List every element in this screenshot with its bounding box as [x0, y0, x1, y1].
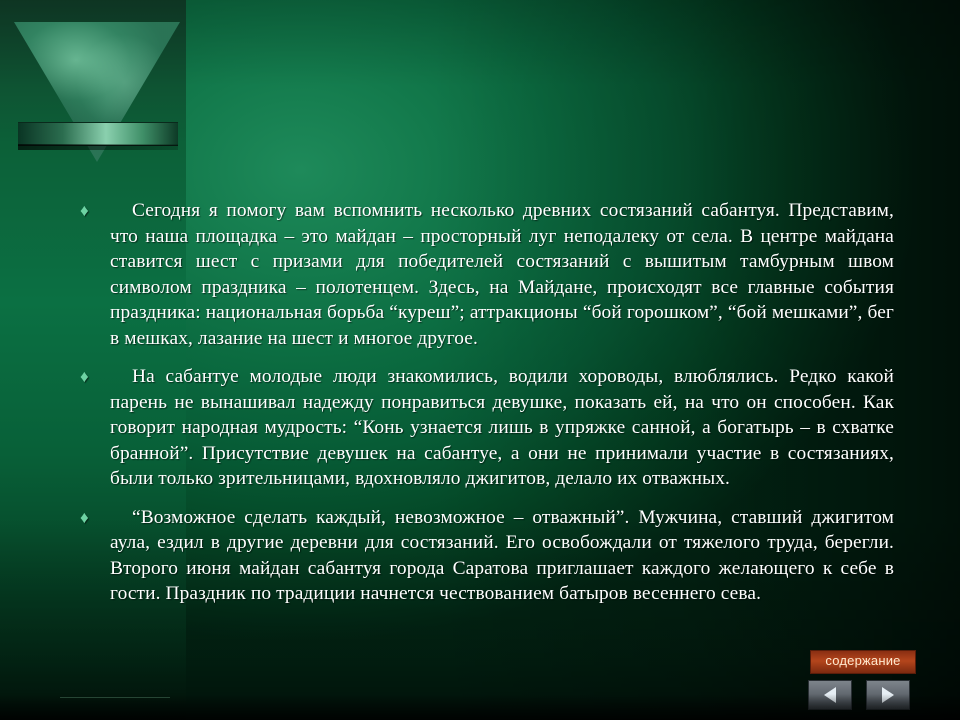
contents-link[interactable]: содержание: [810, 650, 916, 674]
bullet-paragraph: ♦ На сабантуе молодые люди знакомились, …: [64, 364, 894, 492]
triangle-emblem-icon: [14, 22, 180, 162]
bullet-paragraph: ♦ Сегодня я помогу вам вспомнить несколь…: [64, 198, 894, 351]
diamond-bullet-icon: ♦: [80, 200, 89, 222]
emblem-bar-shadow: [18, 144, 178, 150]
slide-body: ♦ Сегодня я помогу вам вспомнить несколь…: [64, 198, 894, 620]
bottom-shade: [0, 694, 960, 720]
bullet-paragraph: ♦ “Возможное сделать каждый, невозможное…: [64, 505, 894, 607]
paragraph-text: Сегодня я помогу вам вспомнить несколько…: [110, 200, 894, 349]
emblem-bar: [18, 122, 178, 146]
paragraph-text: “Возможное сделать каждый, невозможное –…: [110, 507, 894, 605]
slide: ♦ Сегодня я помогу вам вспомнить несколь…: [0, 0, 960, 720]
paragraph-text: На сабантуе молодые люди знакомились, во…: [110, 366, 894, 489]
diamond-bullet-icon: ♦: [80, 366, 89, 388]
diamond-bullet-icon: ♦: [80, 507, 89, 529]
